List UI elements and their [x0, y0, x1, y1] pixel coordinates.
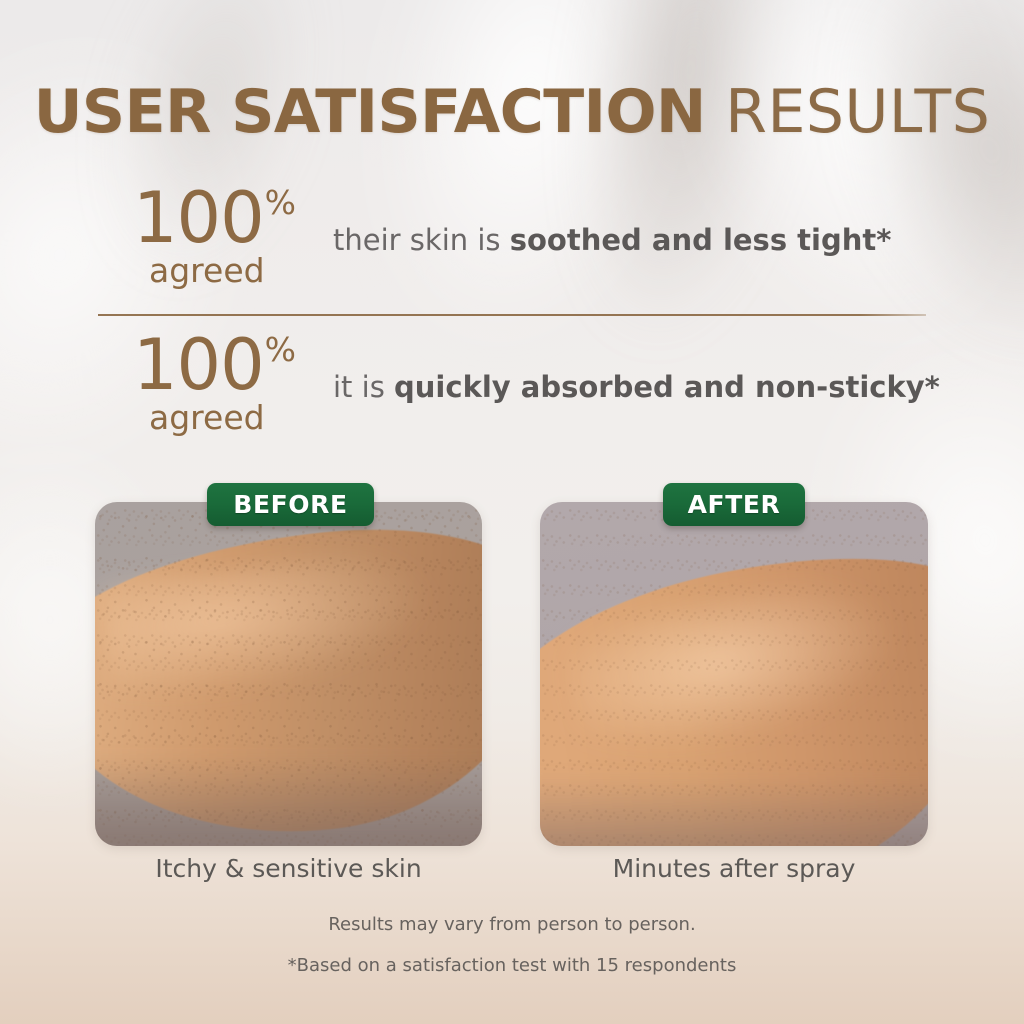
- page-title-light: RESULTS: [706, 77, 991, 147]
- disclaimer-line-1: Results may vary from person to person.: [0, 914, 1024, 935]
- percent-sign: %: [265, 335, 296, 365]
- disclaimer-line-2: *Based on a satisfaction test with 15 re…: [0, 955, 1024, 976]
- stat-figure: 100 % agreed: [133, 186, 318, 287]
- forearm-shadow: [95, 757, 482, 846]
- page-title: USER SATISFACTION RESULTS: [0, 82, 1024, 142]
- stat-claim-strong: soothed and less tight*: [510, 223, 892, 257]
- page-title-bold: USER SATISFACTION: [34, 77, 706, 147]
- stat-claim-light: it is: [333, 370, 394, 404]
- stat-row-absorbed: 100 % agreed it is quickly absorbed and …: [0, 333, 1024, 434]
- stat-claim-strong: quickly absorbed and non-sticky*: [394, 370, 940, 404]
- percent-sign: %: [265, 188, 296, 218]
- after-photo-image: [540, 502, 928, 846]
- stat-agreed-label: agreed: [149, 401, 318, 434]
- forearm-shadow: [540, 777, 928, 846]
- before-photo-image: [95, 502, 482, 846]
- after-badge: AFTER: [663, 483, 805, 526]
- section-divider: [98, 314, 926, 316]
- after-photo: [540, 502, 928, 846]
- stat-claim: it is quickly absorbed and non-sticky*: [333, 371, 1024, 404]
- user-satisfaction-poster: USER SATISFACTION RESULTS 100 % agreed t…: [0, 0, 1024, 1024]
- stat-percentage: 100 %: [133, 333, 318, 397]
- stat-row-soothed: 100 % agreed their skin is soothed and l…: [0, 186, 1024, 287]
- after-caption: Minutes after spray: [540, 854, 928, 883]
- before-photo: [95, 502, 482, 846]
- stat-claim-light: their skin is: [333, 223, 510, 257]
- stat-claim: their skin is soothed and less tight*: [333, 224, 1024, 257]
- stat-percentage: 100 %: [133, 186, 318, 250]
- before-caption: Itchy & sensitive skin: [95, 854, 482, 883]
- stat-agreed-label: agreed: [149, 254, 318, 287]
- stat-number: 100: [133, 186, 264, 250]
- stat-number: 100: [133, 333, 264, 397]
- before-badge: BEFORE: [207, 483, 374, 526]
- stat-figure: 100 % agreed: [133, 333, 318, 434]
